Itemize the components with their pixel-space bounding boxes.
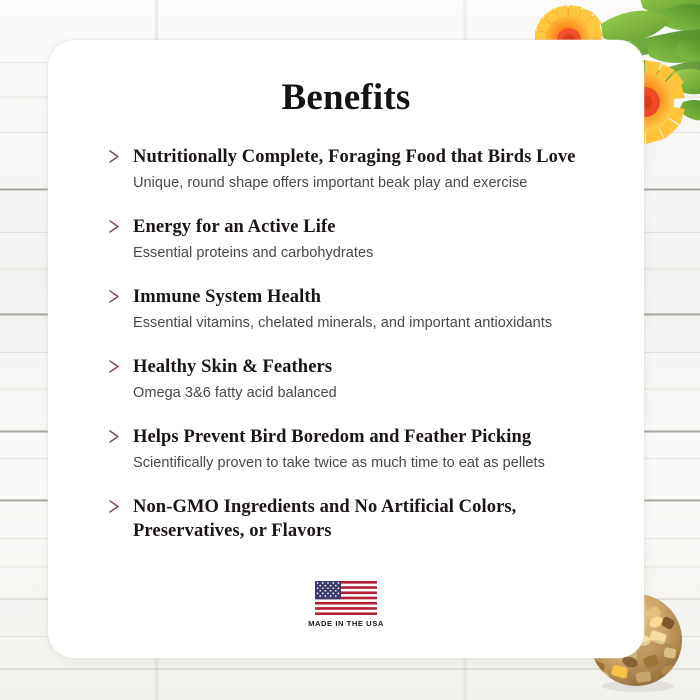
- usa-flag-icon: [315, 581, 377, 615]
- made-in-usa-caption: MADE IN THE USA: [308, 619, 384, 628]
- benefit-subtext: Essential proteins and carbohydrates: [133, 244, 614, 264]
- benefit-heading: Healthy Skin & Feathers: [133, 355, 614, 379]
- chevron-right-icon: [108, 499, 124, 514]
- benefit-item: Non-GMO Ingredients and No Artificial Co…: [78, 495, 614, 544]
- benefits-list: Nutritionally Complete, Foraging Food th…: [78, 145, 614, 544]
- benefit-subtext: Scientifically proven to take twice as m…: [133, 454, 614, 474]
- chevron-right-icon: [108, 359, 124, 374]
- benefit-heading: Nutritionally Complete, Foraging Food th…: [133, 145, 614, 169]
- benefit-subtext: Omega 3&6 fatty acid balanced: [133, 384, 614, 404]
- chevron-right-icon: [108, 289, 124, 304]
- benefit-heading: Energy for an Active Life: [133, 215, 614, 239]
- chevron-right-icon: [108, 149, 124, 164]
- benefit-subtext: Unique, round shape offers important bea…: [133, 174, 614, 194]
- benefit-heading: Immune System Health: [133, 285, 614, 309]
- benefits-card: Benefits Nutritionally Complete, Foragin…: [48, 40, 644, 658]
- made-in-usa-badge: MADE IN THE USA: [48, 581, 644, 628]
- benefit-item: Helps Prevent Bird Boredom and Feather P…: [78, 425, 614, 474]
- benefit-item: Immune System Health Essential vitamins,…: [78, 285, 614, 334]
- benefit-item: Energy for an Active Life Essential prot…: [78, 215, 614, 264]
- benefit-item: Healthy Skin & Feathers Omega 3&6 fatty …: [78, 355, 614, 404]
- chevron-right-icon: [108, 429, 124, 444]
- benefit-subtext: Essential vitamins, chelated minerals, a…: [133, 314, 614, 334]
- page-title: Benefits: [78, 76, 614, 119]
- benefit-item: Nutritionally Complete, Foraging Food th…: [78, 145, 614, 194]
- benefit-heading: Non-GMO Ingredients and No Artificial Co…: [133, 495, 573, 544]
- chevron-right-icon: [108, 219, 124, 234]
- benefit-heading: Helps Prevent Bird Boredom and Feather P…: [133, 425, 614, 449]
